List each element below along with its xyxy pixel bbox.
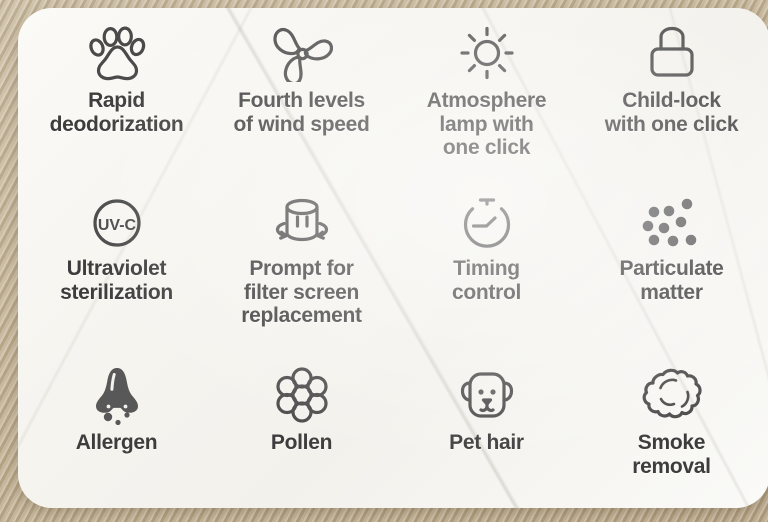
feature-label: Prompt for filter screen replacement	[241, 257, 361, 328]
feature-item-uv-sterilization[interactable]: UV-C Ultraviolet sterilization	[24, 194, 209, 364]
uvc-badge-text: UV-C	[97, 217, 136, 234]
feature-label: Child-lock with one click	[605, 89, 739, 136]
feature-label: Pet hair	[449, 431, 524, 455]
nose-allergen-icon	[87, 364, 147, 426]
feature-label: Particulate matter	[619, 257, 723, 304]
feature-label: Allergen	[76, 431, 158, 455]
feature-item-atmosphere-lamp[interactable]: Atmosphere lamp with one click	[394, 22, 579, 194]
feature-label: Fourth levels of wind speed	[233, 89, 369, 136]
particles-dots-icon	[641, 194, 703, 252]
feature-item-child-lock[interactable]: Child-lock with one click	[579, 22, 764, 194]
feature-item-rapid-deodorization[interactable]: Rapid deodorization	[24, 22, 209, 194]
feature-label: Pollen	[271, 431, 332, 455]
filter-rotate-icon	[271, 194, 333, 252]
padlock-icon	[641, 22, 703, 84]
pollen-flower-icon	[271, 364, 333, 426]
uvc-badge-icon: UV-C	[88, 194, 146, 252]
sun-icon	[456, 22, 518, 84]
smoke-cloud-icon	[639, 364, 705, 426]
feature-item-particulate-matter[interactable]: Particulate matter	[579, 194, 764, 364]
feature-grid: Rapid deodorization Fourth levels of win…	[18, 8, 768, 508]
feature-label: Timing control	[452, 257, 521, 304]
feature-item-pet-hair[interactable]: Pet hair	[394, 364, 579, 508]
feature-item-pollen[interactable]: Pollen	[209, 364, 394, 508]
feature-card: Rapid deodorization Fourth levels of win…	[18, 8, 768, 508]
feature-item-smoke-removal[interactable]: Smoke removal	[579, 364, 764, 508]
paw-print-icon	[86, 22, 148, 84]
feature-label: Rapid deodorization	[50, 89, 184, 136]
feature-item-filter-replacement[interactable]: Prompt for filter screen replacement	[209, 194, 394, 364]
feature-item-wind-speed-levels[interactable]: Fourth levels of wind speed	[209, 22, 394, 194]
feature-label: Smoke removal	[632, 431, 710, 478]
fan-icon	[271, 22, 333, 84]
feature-label: Atmosphere lamp with one click	[427, 89, 547, 160]
feature-item-allergen[interactable]: Allergen	[24, 364, 209, 508]
feature-label: Ultraviolet sterilization	[60, 257, 173, 304]
dog-face-icon	[456, 364, 518, 426]
feature-item-timing-control[interactable]: Timing control	[394, 194, 579, 364]
timer-clock-icon	[457, 194, 517, 252]
